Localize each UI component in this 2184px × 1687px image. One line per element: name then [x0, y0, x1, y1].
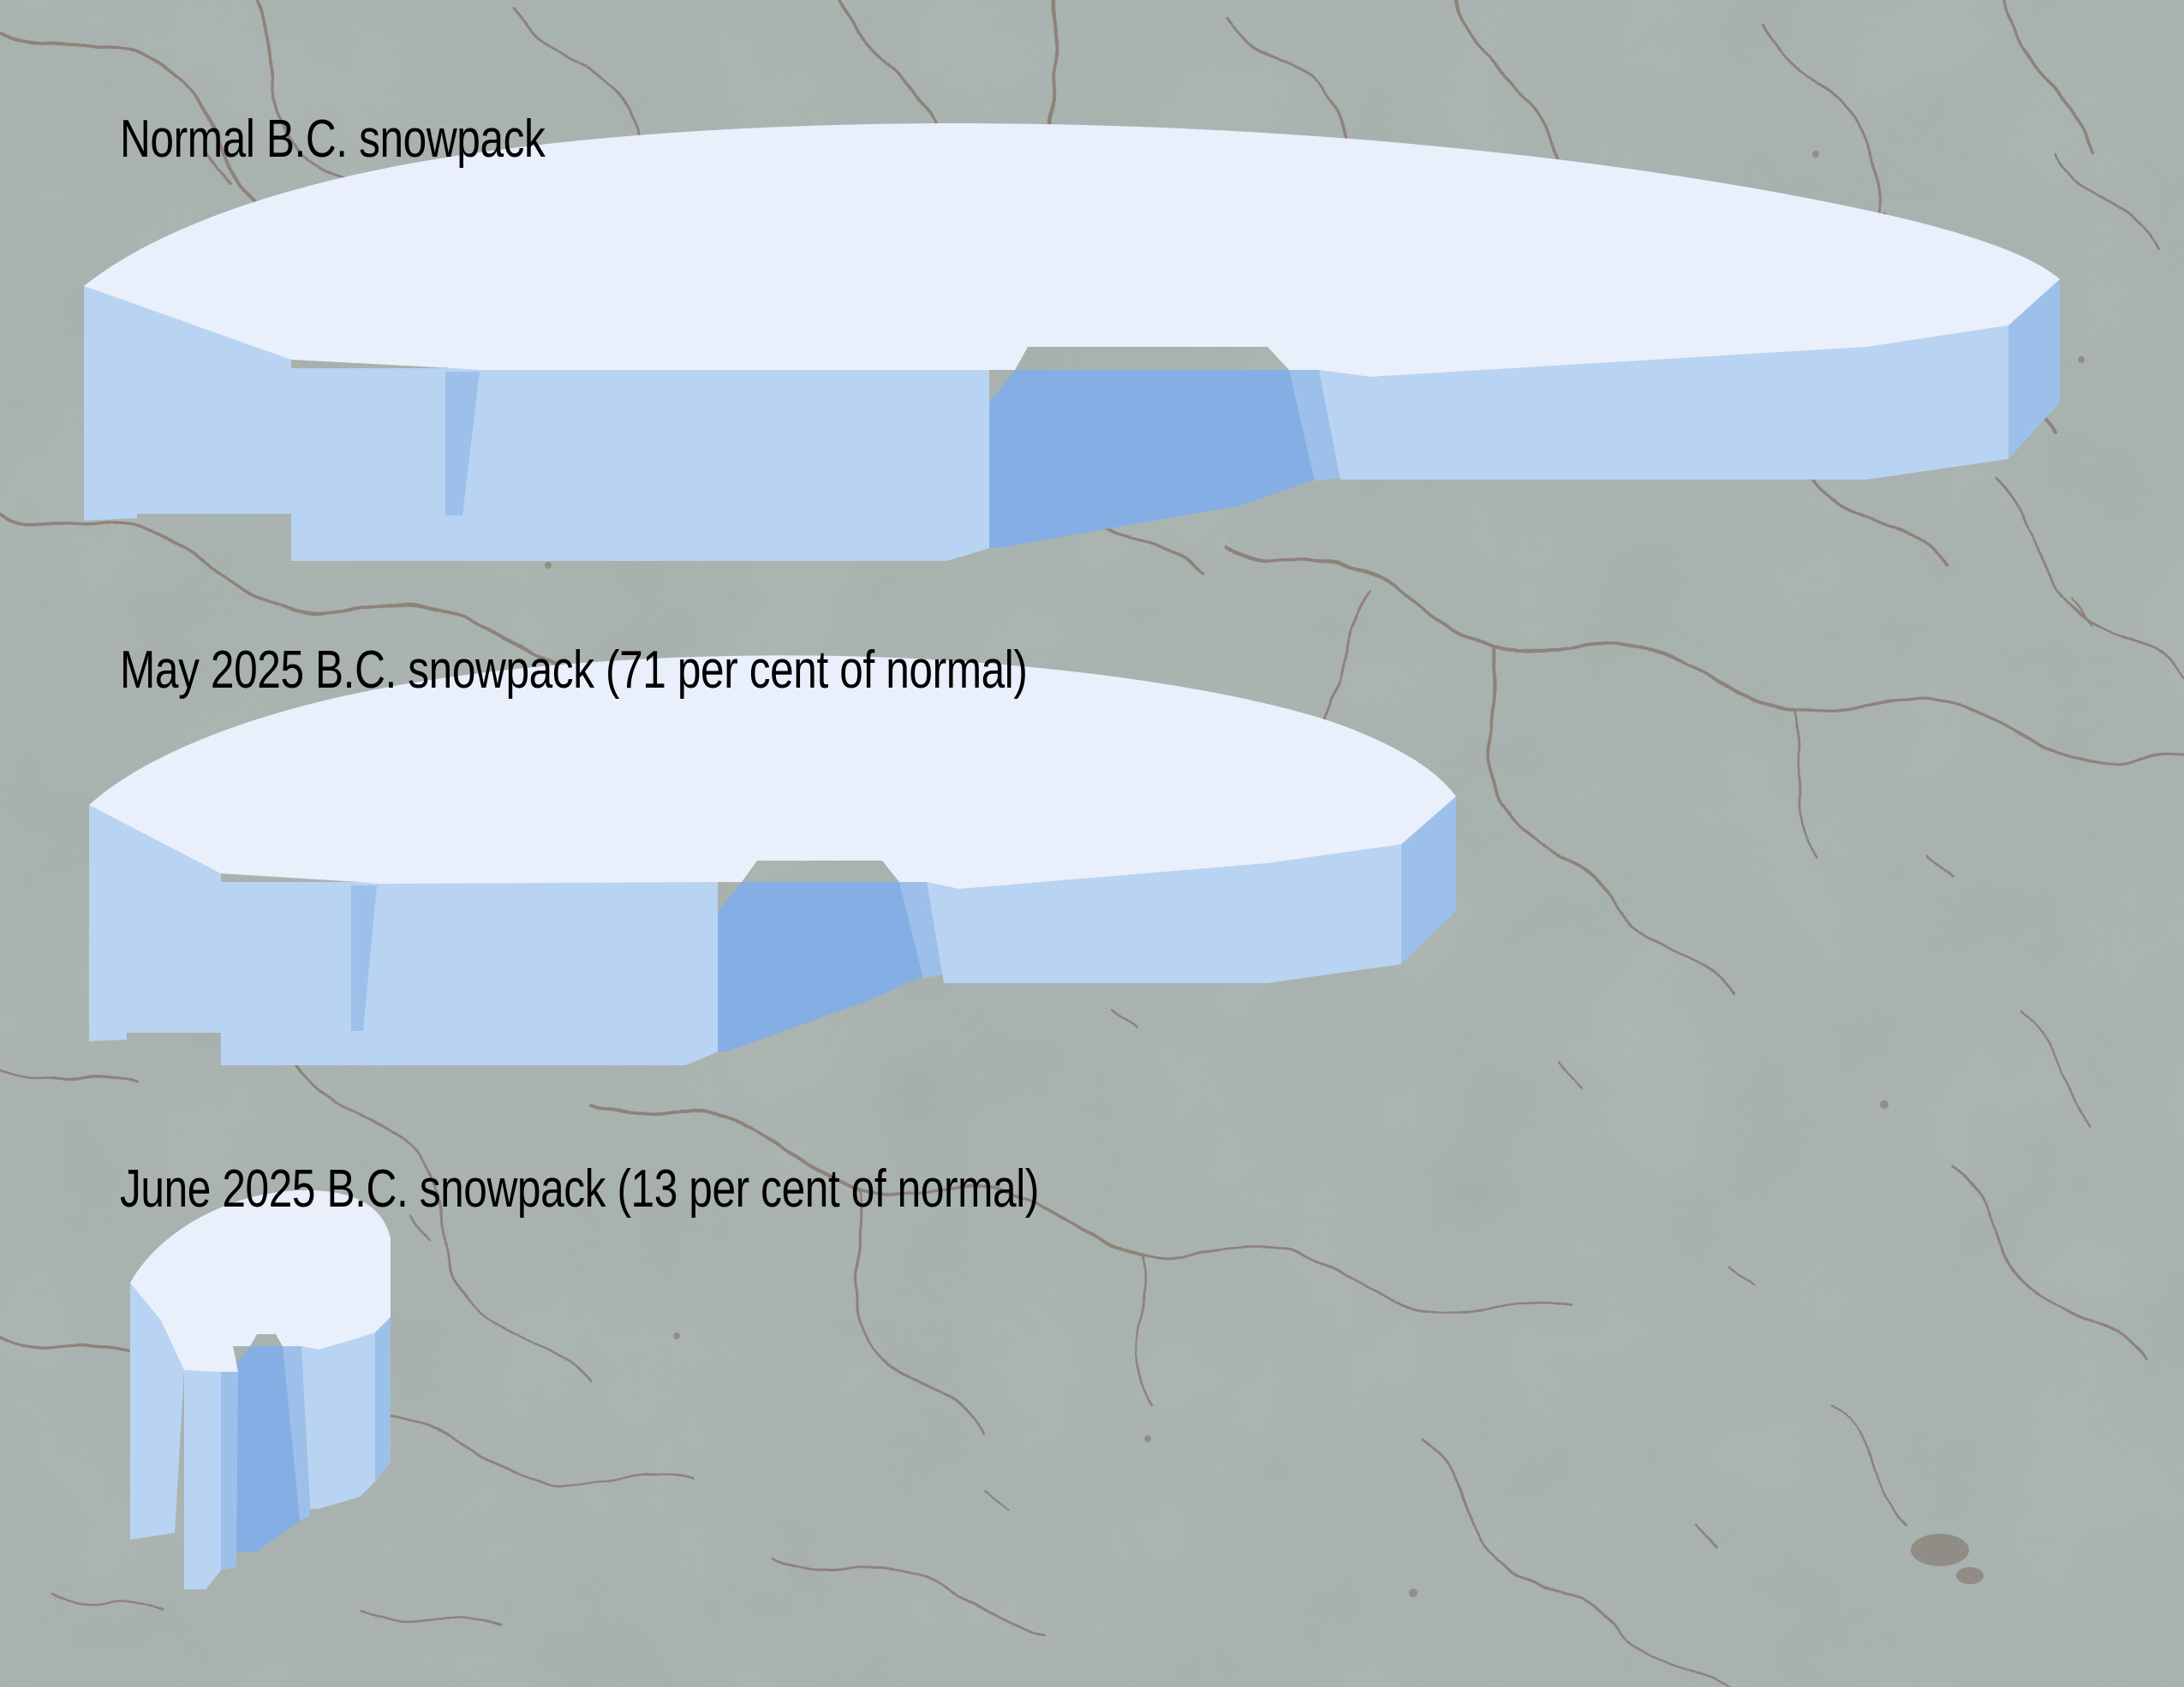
normal-snowpack-slab — [84, 123, 2060, 561]
may-snowpack-slab — [89, 655, 1456, 1065]
normal-side-front — [291, 368, 989, 561]
june-seam-left — [221, 1372, 238, 1571]
infographic-canvas: Normal B.C. snowpack May 2025 B.C. snowp… — [0, 0, 2184, 1687]
snowpack-slabs — [0, 0, 2184, 1687]
normal-recess-face — [989, 370, 1315, 548]
june-side-right — [301, 1332, 375, 1509]
label-normal-snowpack: Normal B.C. snowpack — [120, 113, 545, 166]
label-june-snowpack: June 2025 B.C. snowpack (13 per cent of … — [120, 1163, 1039, 1216]
june-side-rightend — [375, 1317, 391, 1481]
may-side-front — [221, 882, 718, 1065]
june-snowpack-slab — [130, 1190, 391, 1589]
may-recess-face — [718, 882, 923, 1052]
label-may-snowpack: May 2025 B.C. snowpack (71 per cent of n… — [120, 644, 1028, 697]
